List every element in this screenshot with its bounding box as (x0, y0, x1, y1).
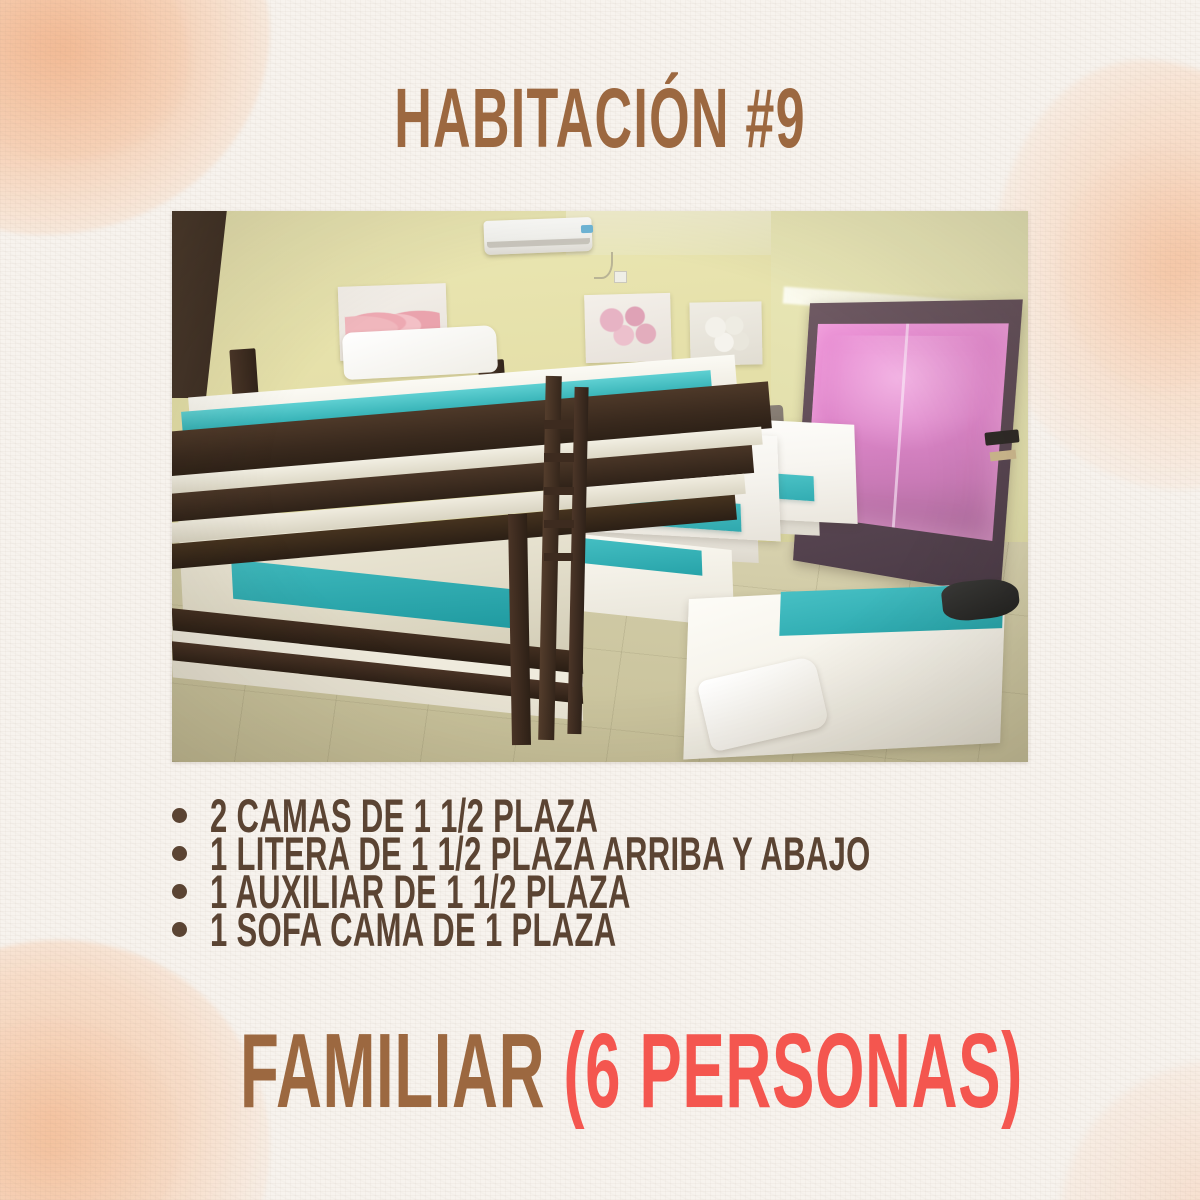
list-item-label: 1 SOFA CAMA DE 1 PLAZA (210, 906, 617, 953)
room-photo (172, 211, 1028, 762)
poster-content: HABITACIÓN #9 (0, 0, 1200, 1200)
room-category-footer: FAMILIAR (6 PERSONAS) (240, 1018, 960, 1124)
photo-vignette (172, 211, 1028, 762)
bullet-dot-icon (172, 846, 187, 861)
bullet-dot-icon (172, 884, 187, 899)
room-info-poster: HABITACIÓN #9 (0, 0, 1200, 1200)
page-title: HABITACIÓN #9 (228, 76, 972, 160)
bullet-dot-icon (172, 922, 187, 937)
room-category-label: FAMILIAR (240, 1012, 563, 1130)
bullet-dot-icon (172, 808, 187, 823)
room-capacity-label: (6 PERSONAS) (563, 1012, 1023, 1130)
features-list: 2 CAMAS DE 1 1/2 PLAZA 1 LITERA DE 1 1/2… (172, 796, 1072, 948)
